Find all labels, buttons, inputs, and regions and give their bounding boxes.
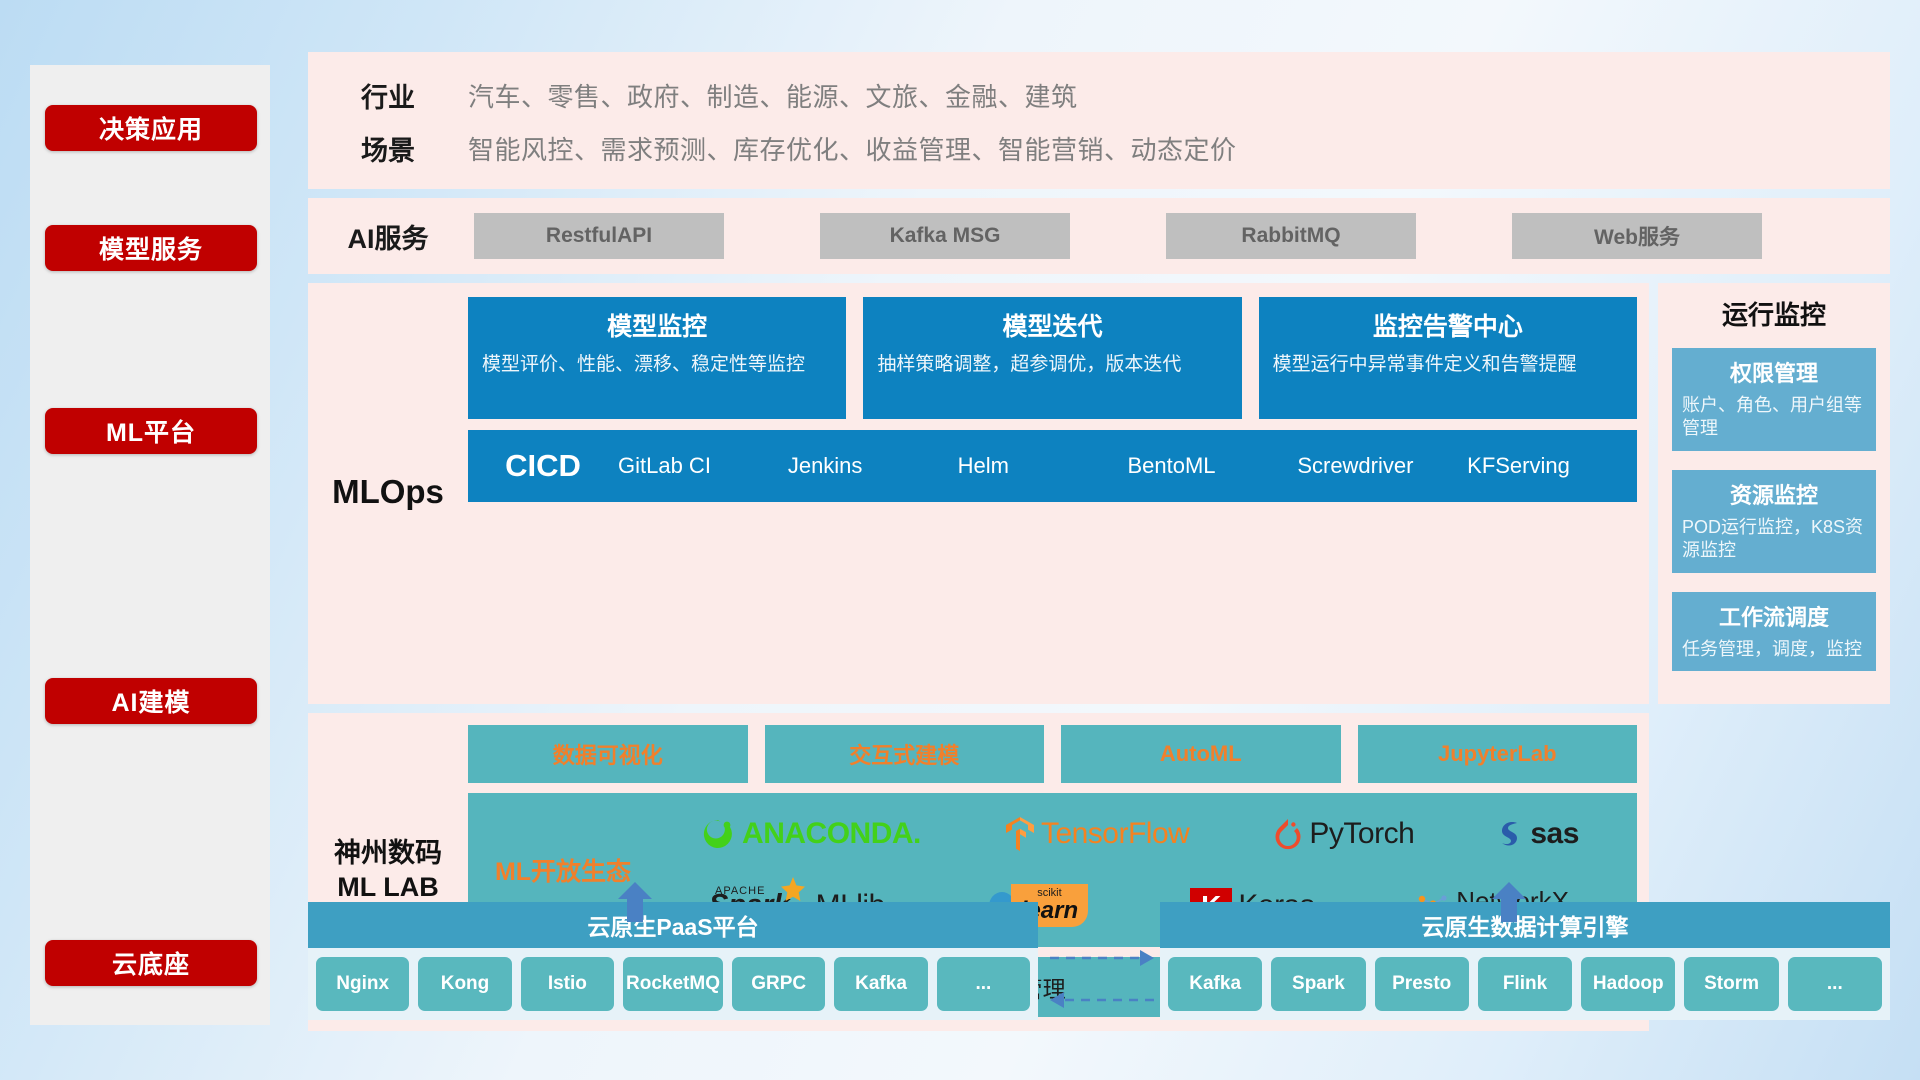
stack-layer-rail: 决策应用 模型服务 ML平台 AI建模 云底座 xyxy=(30,65,270,1025)
pytorch-logo: PyTorch xyxy=(1273,817,1414,851)
monitor-card-resource[interactable]: 资源监控 POD运行监控，K8S资源监控 xyxy=(1672,470,1876,573)
rail-chip-label: 模型服务 xyxy=(99,230,203,266)
industry-label: 行业 xyxy=(308,76,468,115)
tensorflow-icon xyxy=(1005,816,1035,852)
dce-up-arrow-icon xyxy=(1492,882,1526,922)
mlops-content: 模型监控 模型评价、性能、漂移、稳定性等监控 模型迭代 抽样策略调整，超参调优，… xyxy=(468,297,1649,688)
ml-lab-label-line1: 神州数码 xyxy=(334,837,442,871)
scenario-row: 场景 智能风控、需求预测、库存优化、收益管理、智能营销、动态定价 xyxy=(308,129,1890,168)
paas-chip-more[interactable]: ... xyxy=(937,957,1030,1011)
cicd-item-gitlab-ci[interactable]: GitLab CI xyxy=(618,454,788,477)
card-title: 模型迭代 xyxy=(877,307,1227,343)
paas-chip-nginx[interactable]: Nginx xyxy=(316,957,409,1011)
industry-values: 汽车、零售、政府、制造、能源、文旅、金融、建筑 xyxy=(468,77,1078,114)
monitor-card-permission[interactable]: 权限管理 账户、角色、用户组等管理 xyxy=(1672,348,1876,451)
cicd-item-screwdriver[interactable]: Screwdriver xyxy=(1297,454,1467,477)
rail-chip-model-service[interactable]: 模型服务 xyxy=(45,225,257,271)
dce-chip-kafka[interactable]: Kafka xyxy=(1168,957,1262,1011)
dce-chip-hadoop[interactable]: Hadoop xyxy=(1581,957,1675,1011)
tensorflow-logo: TensorFlow xyxy=(1005,816,1189,852)
card-title: 模型监控 xyxy=(482,307,832,343)
tensorflow-logo-text: TensorFlow xyxy=(1041,817,1189,851)
bidirectional-link-arrows xyxy=(1048,944,1156,1014)
pytorch-icon xyxy=(1273,817,1303,851)
mlops-card-alert-center[interactable]: 监控告警中心 模型运行中异常事件定义和告警提醒 xyxy=(1259,297,1637,419)
paas-chip-rocketmq[interactable]: RocketMQ xyxy=(623,957,723,1011)
cloud-native-paas-group: 云原生PaaS平台 Nginx Kong Istio RocketMQ GRPC… xyxy=(308,902,1038,1020)
cicd-label: CICD xyxy=(468,448,618,484)
rail-chip-ml-platform[interactable]: ML平台 xyxy=(45,408,257,454)
rail-chip-label: 云底座 xyxy=(112,945,190,981)
dce-chip-more[interactable]: ... xyxy=(1788,957,1882,1011)
card-desc: POD运行监控，K8S资源监控 xyxy=(1682,516,1866,563)
scenario-label: 场景 xyxy=(308,129,468,168)
cloud-base-zone: 云原生PaaS平台 Nginx Kong Istio RocketMQ GRPC… xyxy=(308,880,1890,1062)
ai-service-label: AI服务 xyxy=(308,217,468,256)
cicd-item-helm[interactable]: Helm xyxy=(958,454,1128,477)
tool-chip-automl[interactable]: AutoML xyxy=(1061,725,1341,783)
rail-chip-label: AI建模 xyxy=(111,683,190,719)
mlops-panel: MLOps 模型监控 模型评价、性能、漂移、稳定性等监控 模型迭代 抽样策略调整… xyxy=(308,283,1649,704)
ml-lab-tool-row: 数据可视化 交互式建模 AutoML JupyterLab xyxy=(468,725,1637,783)
anaconda-logo-text: ANACONDA. xyxy=(742,817,921,851)
rail-chip-label: ML平台 xyxy=(106,413,196,449)
dce-chip-spark[interactable]: Spark xyxy=(1271,957,1365,1011)
decision-application-band: 行业 汽车、零售、政府、制造、能源、文旅、金融、建筑 场景 智能风控、需求预测、… xyxy=(308,52,1890,189)
monitor-card-workflow[interactable]: 工作流调度 任务管理，调度，监控 xyxy=(1672,592,1876,671)
sas-logo: sas xyxy=(1498,817,1579,851)
card-desc: 模型评价、性能、漂移、稳定性等监控 xyxy=(482,352,832,377)
rail-chip-decision-app[interactable]: 决策应用 xyxy=(45,105,257,151)
card-desc: 抽样策略调整，超参调优，版本迭代 xyxy=(877,352,1227,377)
ai-service-band: AI服务 RestfulAPI Kafka MSG RabbitMQ Web服务 xyxy=(308,198,1890,274)
paas-chip-kafka[interactable]: Kafka xyxy=(834,957,927,1011)
ai-service-chip-list: RestfulAPI Kafka MSG RabbitMQ Web服务 xyxy=(468,213,1762,259)
dce-chip-flink[interactable]: Flink xyxy=(1478,957,1572,1011)
service-chip-rabbitmq[interactable]: RabbitMQ xyxy=(1166,213,1416,259)
paas-chip-list: Nginx Kong Istio RocketMQ GRPC Kafka ... xyxy=(308,948,1038,1020)
paas-title: 云原生PaaS平台 xyxy=(308,902,1038,948)
industry-row: 行业 汽车、零售、政府、制造、能源、文旅、金融、建筑 xyxy=(308,76,1890,115)
paas-chip-kong[interactable]: Kong xyxy=(418,957,511,1011)
service-chip-kafka-msg[interactable]: Kafka MSG xyxy=(820,213,1070,259)
rail-chip-label: 决策应用 xyxy=(99,110,203,146)
cloud-native-data-compute-group: 云原生数据计算引擎 Kafka Spark Presto Flink Hadoo… xyxy=(1160,902,1890,1020)
card-title: 权限管理 xyxy=(1682,356,1866,388)
pytorch-logo-text: PyTorch xyxy=(1309,817,1414,851)
mlops-card-list: 模型监控 模型评价、性能、漂移、稳定性等监控 模型迭代 抽样策略调整，超参调优，… xyxy=(468,297,1637,419)
cicd-item-bentoml[interactable]: BentoML xyxy=(1127,454,1297,477)
service-chip-web-service[interactable]: Web服务 xyxy=(1512,213,1762,259)
mlops-card-model-monitoring[interactable]: 模型监控 模型评价、性能、漂移、稳定性等监控 xyxy=(468,297,846,419)
card-desc: 任务管理，调度，监控 xyxy=(1682,638,1866,661)
paas-chip-istio[interactable]: Istio xyxy=(521,957,614,1011)
card-desc: 模型运行中异常事件定义和告警提醒 xyxy=(1273,352,1623,377)
anaconda-logo: ANACONDA. xyxy=(700,816,921,852)
ml-platform-band: MLOps 模型监控 模型评价、性能、漂移、稳定性等监控 模型迭代 抽样策略调整… xyxy=(308,283,1890,704)
card-title: 资源监控 xyxy=(1682,478,1866,510)
service-chip-restfulapi[interactable]: RestfulAPI xyxy=(474,213,724,259)
runtime-monitor-panel: 运行监控 权限管理 账户、角色、用户组等管理 资源监控 POD运行监控，K8S资… xyxy=(1658,283,1890,704)
card-desc: 账户、角色、用户组等管理 xyxy=(1682,394,1866,441)
rail-chip-cloud-base[interactable]: 云底座 xyxy=(45,940,257,986)
card-title: 工作流调度 xyxy=(1682,600,1866,632)
ecosystem-logo-row-1: ANACONDA. TensorFlow xyxy=(658,799,1621,869)
dce-chip-storm[interactable]: Storm xyxy=(1684,957,1778,1011)
card-title: 监控告警中心 xyxy=(1273,307,1623,343)
cicd-item-kfserving[interactable]: KFServing xyxy=(1467,454,1637,477)
rail-chip-ai-modeling[interactable]: AI建模 xyxy=(45,678,257,724)
cicd-bar: CICD GitLab CI Jenkins Helm BentoML Scre… xyxy=(468,430,1637,502)
paas-chip-grpc[interactable]: GRPC xyxy=(732,957,825,1011)
cicd-item-jenkins[interactable]: Jenkins xyxy=(788,454,958,477)
sas-logo-text: sas xyxy=(1530,817,1579,851)
tool-chip-jupyterlab[interactable]: JupyterLab xyxy=(1358,725,1638,783)
dce-chip-presto[interactable]: Presto xyxy=(1375,957,1469,1011)
tool-chip-data-visualization[interactable]: 数据可视化 xyxy=(468,725,748,783)
tool-chip-interactive-modeling[interactable]: 交互式建模 xyxy=(765,725,1045,783)
dce-chip-list: Kafka Spark Presto Flink Hadoop Storm ..… xyxy=(1160,948,1890,1020)
anaconda-icon xyxy=(700,816,736,852)
sas-icon xyxy=(1498,818,1524,850)
scenario-values: 智能风控、需求预测、库存优化、收益管理、智能营销、动态定价 xyxy=(468,130,1237,167)
mlops-label: MLOps xyxy=(308,297,468,688)
runtime-monitor-title: 运行监控 xyxy=(1672,295,1876,332)
mlops-card-model-iteration[interactable]: 模型迭代 抽样策略调整，超参调优，版本迭代 xyxy=(863,297,1241,419)
paas-up-arrow-icon xyxy=(618,882,652,922)
